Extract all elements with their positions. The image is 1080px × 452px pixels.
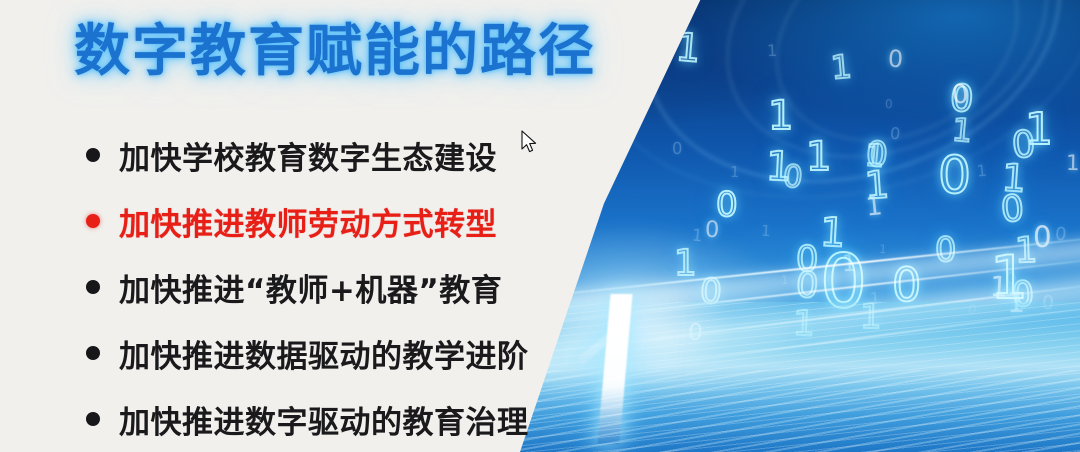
bullet-list: 加快学校教育数字生态建设 加快推进教师劳动方式转型 加快推进“教师+机器”教育 … — [86, 122, 556, 452]
binary-digit: 1 — [730, 164, 740, 179]
slide-canvas: 1011010011010101100101101001101010110010… — [0, 0, 1080, 452]
list-item[interactable]: 加快推进数据驱动的教学进阶 — [86, 320, 556, 386]
binary-digit: 1 — [767, 43, 778, 59]
bullet-dot-icon — [86, 214, 100, 228]
binary-digit: 1 — [864, 166, 890, 205]
list-item[interactable]: 加快学校教育数字生态建设 — [86, 122, 556, 188]
binary-digit: 0 — [938, 150, 971, 202]
bullet-dot-icon — [86, 412, 100, 426]
list-item-label: 加快推进数据驱动的教学进阶 — [119, 331, 529, 376]
digital-binary-artwork: 1011010011010101100101101001101010110010… — [520, 0, 1080, 452]
binary-digit: 0 — [781, 162, 803, 194]
bullet-dot-icon — [86, 346, 100, 360]
list-item-label: 加快推进数字驱动的教育治理 — [119, 397, 529, 442]
list-item-label: 加快学校教育数字生态建设 — [119, 133, 497, 178]
binary-digit: 0 — [889, 125, 901, 142]
artwork-bright-hotspot — [540, 222, 800, 392]
binary-digit: 1 — [829, 50, 852, 84]
binary-digit: 1 — [806, 137, 832, 177]
binary-digit: 1 — [1066, 152, 1080, 174]
list-item[interactable]: 加快推进教师劳动方式转型 — [86, 188, 556, 254]
list-item-label: 加快推进“教师+机器”教育 — [119, 265, 502, 310]
page-title: 数字教育赋能的路径 — [74, 6, 596, 87]
binary-digit: 0 — [887, 47, 903, 71]
list-item[interactable]: 加快推进“教师+机器”教育 — [86, 254, 556, 320]
binary-digit: 1 — [1025, 108, 1053, 152]
binary-digit: 0 — [672, 141, 683, 158]
list-item-label: 加快推进教师劳动方式转型 — [119, 199, 497, 244]
binary-digit: 0 — [716, 188, 738, 222]
list-item[interactable]: 加快推进数字驱动的教育治理 — [86, 386, 556, 452]
binary-digit: 1 — [977, 163, 988, 179]
binary-digit: 0 — [1000, 190, 1026, 228]
bullet-dot-icon — [86, 148, 100, 162]
binary-digit: 0 — [885, 99, 893, 111]
binary-digit: 1 — [768, 96, 793, 136]
binary-digit: 0 — [951, 81, 970, 109]
binary-digit: 1 — [674, 29, 702, 69]
bullet-dot-icon — [86, 280, 100, 294]
